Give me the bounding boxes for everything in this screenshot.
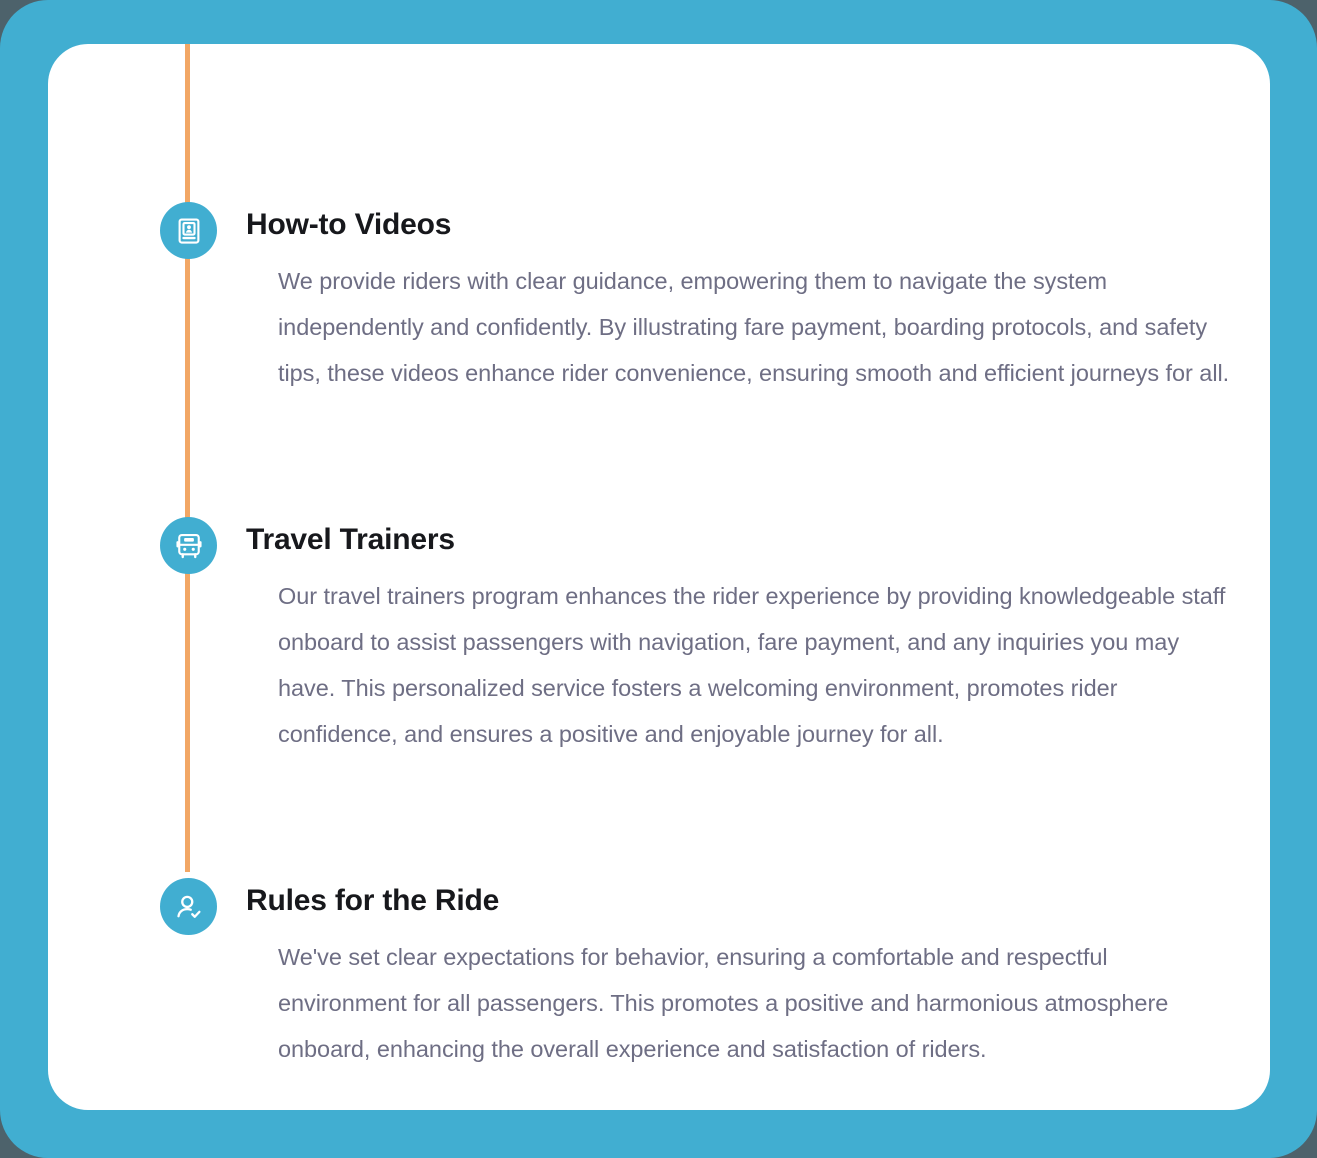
timeline-rail (185, 44, 190, 872)
timeline-marker[interactable] (160, 517, 217, 574)
timeline-item-title: How-to Videos (246, 208, 1240, 241)
timeline-item-description: We provide riders with clear guidance, e… (278, 258, 1240, 396)
timeline-item-title: Travel Trainers (246, 523, 1240, 556)
timeline-item-description: Our travel trainers program enhances the… (278, 573, 1240, 757)
timeline-item-content: How-to Videos We provide riders with cle… (246, 208, 1240, 396)
timeline-item-content: Travel Trainers Our travel trainers prog… (246, 523, 1240, 757)
manual-book-person-icon (174, 216, 204, 246)
timeline-marker[interactable] (160, 878, 217, 935)
timeline-item-title: Rules for the Ride (246, 884, 1240, 917)
bus-front-icon (174, 531, 204, 561)
person-check-icon (174, 892, 204, 922)
timeline-item-content: Rules for the Ride We've set clear expec… (246, 884, 1240, 1072)
teal-frame: How-to Videos We provide riders with cle… (0, 0, 1317, 1158)
timeline-marker[interactable] (160, 202, 217, 259)
content-card: How-to Videos We provide riders with cle… (48, 44, 1270, 1110)
timeline-item-description: We've set clear expectations for behavio… (278, 934, 1240, 1072)
